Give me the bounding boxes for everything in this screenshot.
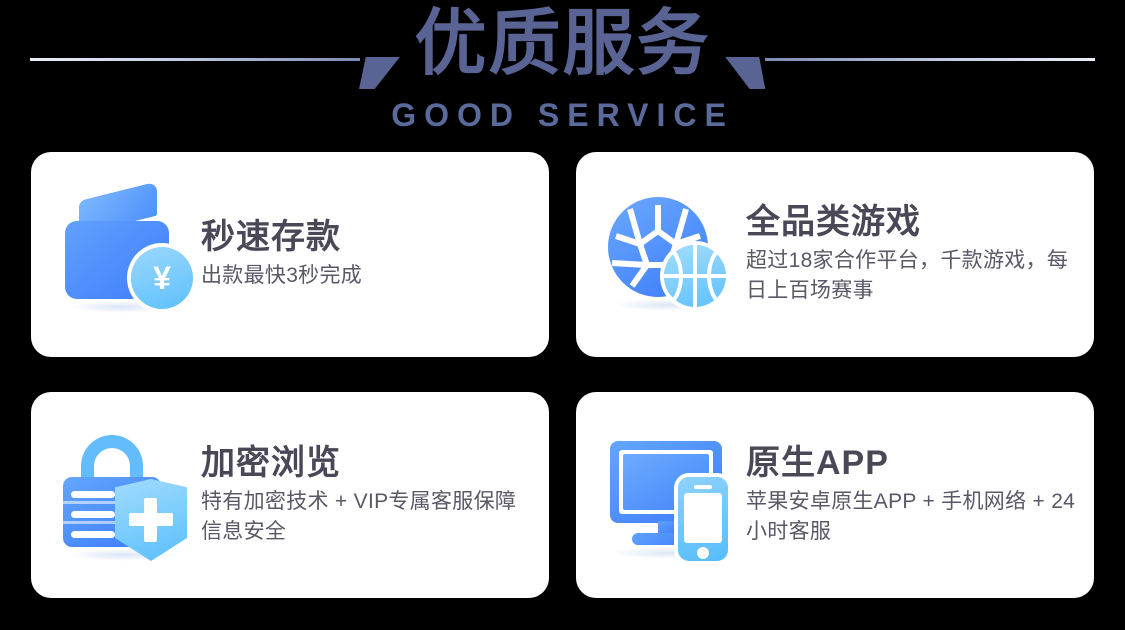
padlock-stripe xyxy=(71,491,115,498)
padlock-stripe xyxy=(71,511,115,518)
feature-card-games[interactable]: 全品类游戏 超过18家合作平台，千款游戏，每日上百场赛事 xyxy=(576,152,1094,357)
feature-card-encryption[interactable]: 加密浏览 特有加密技术 + VIP专属客服保障信息安全 xyxy=(31,392,549,598)
yen-coin-icon: ¥ xyxy=(131,247,193,309)
wallet-yen-icon: ¥ xyxy=(57,189,197,321)
card-title: 全品类游戏 xyxy=(746,203,1076,242)
card-subtitle: 出款最快3秒完成 xyxy=(201,261,531,291)
phone-speaker xyxy=(694,485,712,489)
card-icon-wrap xyxy=(602,189,742,321)
monitor-phone-icon xyxy=(602,429,742,561)
page-title: 优质服务 xyxy=(0,8,1125,80)
card-subtitle: 苹果安卓原生APP + 手机网络 + 24小时客服 xyxy=(746,487,1076,547)
card-title: 加密浏览 xyxy=(201,444,531,483)
phone-home-button xyxy=(697,547,709,559)
card-icon-wrap xyxy=(602,429,742,561)
plus-icon xyxy=(144,498,157,542)
card-icon-wrap xyxy=(57,429,197,561)
card-title: 原生APP xyxy=(746,444,1076,483)
feature-card-grid: ¥ 秒速存款 出款最快3秒完成 xyxy=(31,152,1094,598)
card-subtitle: 超过18家合作平台，千款游戏，每日上百场赛事 xyxy=(746,246,1076,306)
phone-screen xyxy=(684,493,722,543)
lock-shield-icon xyxy=(57,429,197,561)
card-text-wrap: 全品类游戏 超过18家合作平台，千款游戏，每日上百场赛事 xyxy=(742,203,1076,306)
promo-banner: 优质服务 GOOD SERVICE ¥ 秒速存款 出款最快3秒完成 xyxy=(0,0,1125,630)
page-subtitle: GOOD SERVICE xyxy=(0,96,1125,134)
shield-icon xyxy=(115,479,187,561)
soccer-basketball-icon xyxy=(602,189,742,321)
feature-card-deposit[interactable]: ¥ 秒速存款 出款最快3秒完成 xyxy=(31,152,549,357)
basketball-icon xyxy=(664,245,726,307)
card-title: 秒速存款 xyxy=(201,218,531,257)
card-icon-wrap: ¥ xyxy=(57,189,197,321)
smartphone-icon xyxy=(678,477,728,561)
feature-card-native-app[interactable]: 原生APP 苹果安卓原生APP + 手机网络 + 24小时客服 xyxy=(576,392,1094,598)
card-subtitle: 特有加密技术 + VIP专属客服保障信息安全 xyxy=(201,487,531,547)
card-text-wrap: 原生APP 苹果安卓原生APP + 手机网络 + 24小时客服 xyxy=(742,444,1076,547)
banner-header: 优质服务 GOOD SERVICE xyxy=(0,0,1125,150)
padlock-stripe xyxy=(71,531,115,538)
card-text-wrap: 加密浏览 特有加密技术 + VIP专属客服保障信息安全 xyxy=(197,444,531,547)
card-text-wrap: 秒速存款 出款最快3秒完成 xyxy=(197,218,531,291)
